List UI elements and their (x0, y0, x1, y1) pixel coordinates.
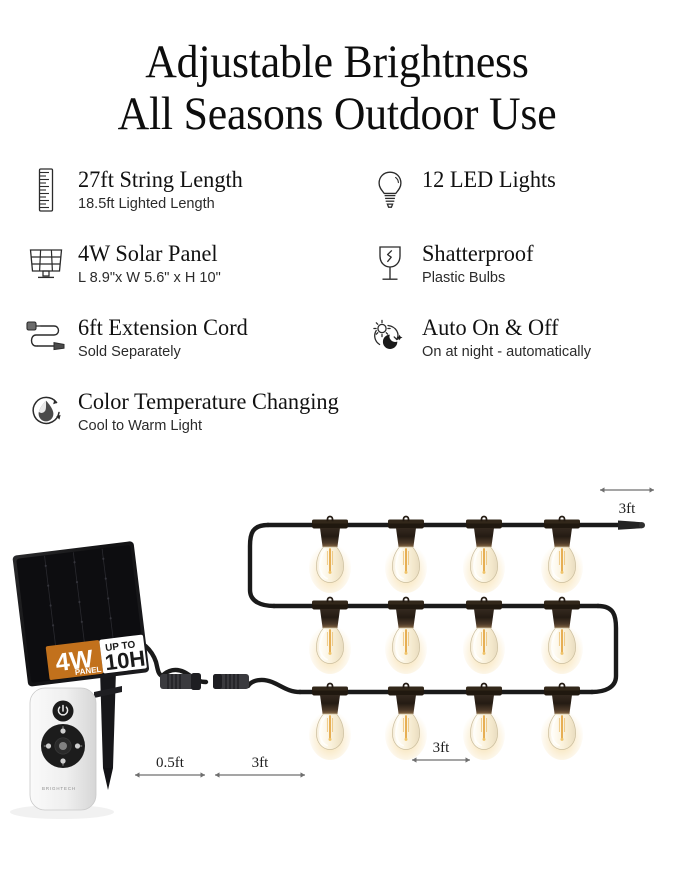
feature-title: Shatterproof (422, 241, 534, 267)
feature-string-length: 27ft String Length 18.5ft Lighted Length (24, 166, 368, 214)
feature-auto-on-off: Auto On & Off On at night - automaticall… (368, 314, 664, 362)
feature-row: 4W Solar Panel L 8.9"x W 5.6" x H 10" Sh… (24, 240, 664, 288)
solar-panel-icon (24, 240, 68, 288)
feature-text: 4W Solar Panel L 8.9"x W 5.6" x H 10" (78, 240, 225, 287)
feature-text: Color Temperature Changing Cool to Warm … (78, 388, 347, 435)
feature-text: 27ft String Length 18.5ft Lighted Length (78, 166, 248, 213)
dimension-label: 0.5ft (156, 755, 185, 771)
feature-led-count: 12 LED Lights (368, 166, 664, 214)
feature-subtitle: L 8.9"x W 5.6" x H 10" (78, 268, 221, 287)
warm-light-button[interactable] (46, 743, 51, 748)
bulb (309, 683, 351, 760)
feature-solar-panel: 4W Solar Panel L 8.9"x W 5.6" x H 10" (24, 240, 368, 288)
cool-light-button[interactable] (75, 743, 80, 748)
dimension-half-ft: 0.5ft (135, 755, 205, 778)
dimension-label: 3ft (252, 755, 269, 771)
dimension-top-right: 3ft (600, 487, 654, 517)
feature-row: 6ft Extension Cord Sold Separately (24, 314, 664, 362)
fragile-glass-icon (368, 240, 412, 288)
feature-row: Color Temperature Changing Cool to Warm … (24, 388, 664, 436)
dimension-label: 3ft (619, 501, 636, 517)
feature-color-temperature: Color Temperature Changing Cool to Warm … (24, 388, 664, 436)
feature-title: 6ft Extension Cord (78, 315, 248, 341)
feature-title: Auto On & Off (422, 315, 591, 341)
bulb (309, 597, 351, 674)
string-end-cap (618, 521, 645, 530)
remote-brand-label: BRIGHTECH (42, 786, 76, 791)
feature-list: 27ft String Length 18.5ft Lighted Length (24, 166, 664, 436)
cable-connector-male (160, 673, 201, 690)
page-title: Adjustable Brightness All Seasons Outdoo… (0, 36, 674, 140)
bulb-row-top (309, 516, 583, 593)
feature-title: 27ft String Length (78, 167, 243, 193)
brightness-up-button[interactable] (60, 728, 65, 733)
product-diagram: 4W PANEL UP TO 10H (0, 430, 674, 879)
dimension-label: 3ft (433, 740, 450, 756)
title-line-1: Adjustable Brightness (24, 36, 651, 88)
feature-text: 12 LED Lights (422, 166, 560, 193)
feature-text: Shatterproof Plastic Bulbs (422, 240, 537, 287)
bulb (463, 516, 505, 593)
bulb (385, 516, 427, 593)
bulb (541, 597, 583, 674)
bulb (541, 516, 583, 593)
bulb (541, 683, 583, 760)
bulb (385, 683, 427, 760)
bulb (309, 516, 351, 593)
dimension-bottom-second: 3ft (215, 755, 305, 778)
infographic-page: Adjustable Brightness All Seasons Outdoo… (0, 0, 674, 879)
feature-title: Color Temperature Changing (78, 389, 339, 415)
feature-subtitle: Sold Separately (78, 342, 248, 361)
bulb (463, 597, 505, 674)
bulb (463, 683, 505, 760)
sun-moon-cycle-icon (368, 314, 412, 362)
light-bulb-icon (368, 166, 412, 214)
feature-extension-cord: 6ft Extension Cord Sold Separately (24, 314, 368, 362)
feature-row: 27ft String Length 18.5ft Lighted Length (24, 166, 664, 214)
feature-shatterproof: Shatterproof Plastic Bulbs (368, 240, 664, 288)
feature-subtitle: 18.5ft Lighted Length (78, 194, 243, 213)
title-line-2: All Seasons Outdoor Use (24, 88, 651, 140)
feature-title: 12 LED Lights (422, 167, 556, 193)
color-temperature-icon (24, 388, 68, 436)
feature-subtitle: On at night - automatically (422, 342, 591, 361)
remote-control: BRIGHTECH (10, 688, 114, 819)
brightness-down-button[interactable] (60, 758, 65, 763)
feature-subtitle: Plastic Bulbs (422, 268, 534, 287)
cable-connector-female (213, 674, 249, 689)
ruler-icon (24, 166, 68, 214)
bulb-row-middle (309, 597, 583, 674)
feature-text: Auto On & Off On at night - automaticall… (422, 314, 596, 361)
power-cord-icon (24, 314, 68, 362)
badge-hours: 10H (103, 645, 146, 675)
feature-title: 4W Solar Panel (78, 241, 221, 267)
bulb (385, 597, 427, 674)
feature-text: 6ft Extension Cord Sold Separately (78, 314, 253, 361)
